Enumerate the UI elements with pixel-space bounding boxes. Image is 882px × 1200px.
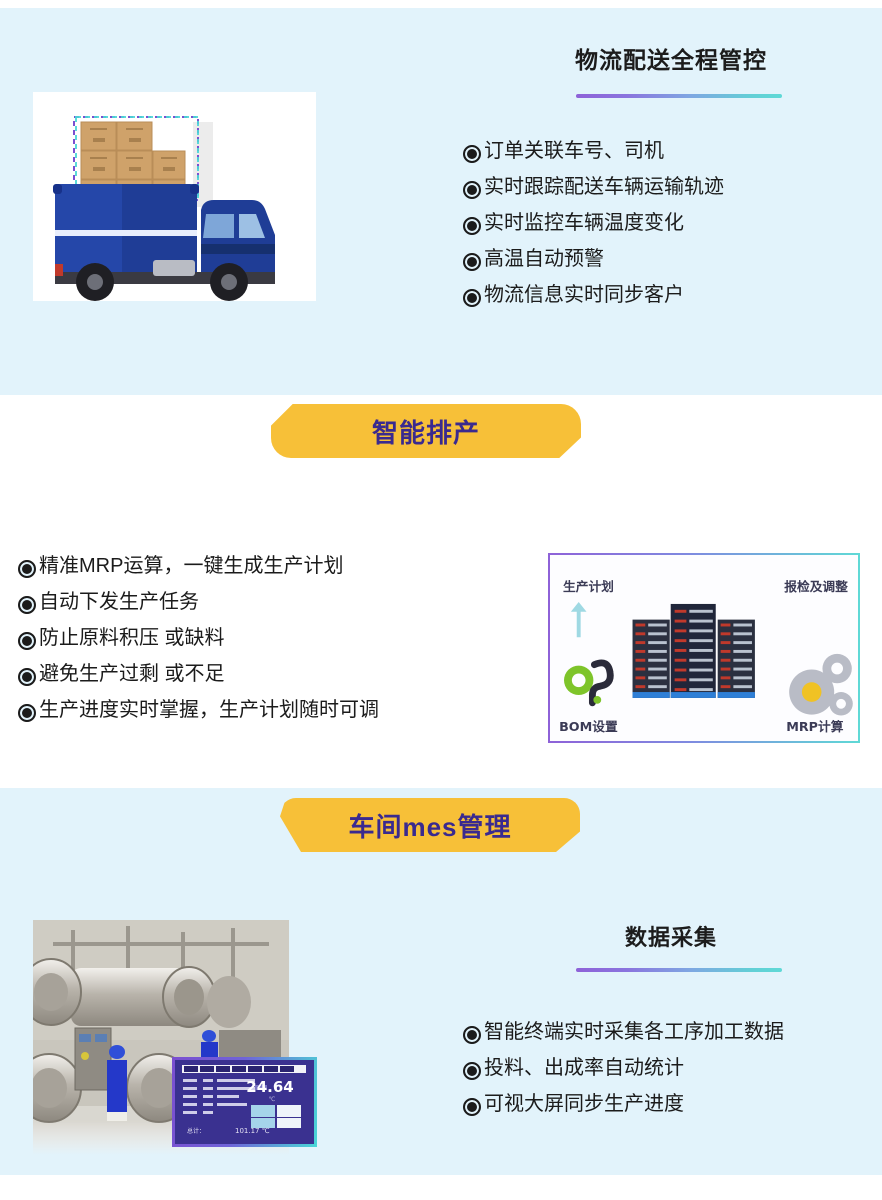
delivery-truck-image <box>33 92 316 301</box>
list-item-label: 高温自动预警 <box>484 249 604 269</box>
list-item: 避免生产过剩 或不足 <box>18 664 488 686</box>
list-item: 智能终端实时采集各工序加工数据 <box>463 1022 873 1044</box>
bullet-icon <box>18 560 36 578</box>
mes-feature-list: 智能终端实时采集各工序加工数据 投料、出成率自动统计 可视大屏同步生产进度 <box>463 1022 873 1130</box>
mrp-flow-diagram-image: 生产计划 报检及调整 BOM设置 MRP计算 <box>548 553 860 743</box>
list-item: 高温自动预警 <box>463 249 873 271</box>
list-item: 实时监控车辆温度变化 <box>463 213 873 235</box>
svg-text:总计：: 总计： <box>187 1127 205 1135</box>
bullet-icon <box>463 145 481 163</box>
bullet-icon <box>463 181 481 199</box>
list-item: 防止原料积压 或缺料 <box>18 628 488 650</box>
logistics-feature-list: 订单关联车号、司机 实时跟踪配送车辆运输轨迹 实时监控车辆温度变化 高温自动预警… <box>463 141 873 321</box>
section-logistics: 物流配送全程管控 订单关联车号、司机 实时跟踪配送车辆运输轨迹 实时监控车辆温度… <box>0 8 882 395</box>
section-mes-title: 数据采集 <box>460 920 882 952</box>
svg-text:BOM设置: BOM设置 <box>559 719 618 734</box>
bullet-icon <box>463 253 481 271</box>
svg-text:报检及调整: 报检及调整 <box>784 579 848 594</box>
list-item-label: 物流信息实时同步客户 <box>484 285 684 305</box>
bullet-icon <box>18 704 36 722</box>
bullet-icon <box>463 217 481 235</box>
bullet-icon <box>18 632 36 650</box>
list-item: 订单关联车号、司机 <box>463 141 873 163</box>
banner-scheduling-label: 智能排产 <box>372 413 480 450</box>
bullet-icon <box>463 289 481 307</box>
scheduling-feature-list: 精准MRP运算，一键生成生产计划 自动下发生产任务 防止原料积压 或缺料 避免生… <box>18 556 488 736</box>
list-item-label: 投料、出成率自动统计 <box>484 1058 684 1078</box>
list-item: 可视大屏同步生产进度 <box>463 1094 873 1116</box>
list-item: 生产进度实时掌握，生产计划随时可调 <box>18 700 488 722</box>
list-item-label: 实时跟踪配送车辆运输轨迹 <box>484 177 724 197</box>
list-item: 实时跟踪配送车辆运输轨迹 <box>463 177 873 199</box>
hmi-screen-illustration: 24.64 ℃ 总计： 101.17 ℃ <box>175 1060 314 1144</box>
list-item-label: 可视大屏同步生产进度 <box>484 1094 684 1114</box>
list-item-label: 精准MRP运算，一键生成生产计划 <box>39 556 343 576</box>
section-logistics-title: 物流配送全程管控 <box>460 41 882 75</box>
svg-text:101.17 ℃: 101.17 ℃ <box>235 1127 270 1135</box>
bullet-icon <box>463 1062 481 1080</box>
list-item-label: 订单关联车号、司机 <box>484 141 664 161</box>
list-item: 精准MRP运算，一键生成生产计划 <box>18 556 488 578</box>
bullet-icon <box>18 596 36 614</box>
hmi-control-screen: 24.64 ℃ 总计： 101.17 ℃ <box>172 1057 317 1147</box>
list-item: 投料、出成率自动统计 <box>463 1058 873 1080</box>
poster-page: 物流配送全程管控 订单关联车号、司机 实时跟踪配送车辆运输轨迹 实时监控车辆温度… <box>0 0 882 1200</box>
svg-text:生产计划: 生产计划 <box>563 579 614 594</box>
list-item-label: 防止原料积压 或缺料 <box>39 628 225 648</box>
list-item-label: 生产进度实时掌握，生产计划随时可调 <box>39 700 379 720</box>
svg-text:MRP计算: MRP计算 <box>786 719 843 734</box>
list-item-label: 避免生产过剩 或不足 <box>39 664 225 684</box>
page-footer-space <box>0 1175 882 1200</box>
bullet-icon <box>463 1098 481 1116</box>
bullet-icon <box>463 1026 481 1044</box>
list-item-label: 智能终端实时采集各工序加工数据 <box>484 1022 784 1042</box>
banner-mes: 车间mes管理 <box>280 798 580 852</box>
banner-mes-label: 车间mes管理 <box>348 807 511 844</box>
gradient-rule <box>576 94 782 98</box>
truck-illustration <box>33 92 316 301</box>
list-item-label: 自动下发生产任务 <box>39 592 199 612</box>
list-item: 物流信息实时同步客户 <box>463 285 873 307</box>
banner-scheduling: 智能排产 <box>271 404 581 458</box>
list-item: 自动下发生产任务 <box>18 592 488 614</box>
bullet-icon <box>18 668 36 686</box>
gradient-rule <box>576 968 782 972</box>
mrp-diagram-illustration: 生产计划 报检及调整 BOM设置 MRP计算 <box>550 555 858 741</box>
svg-text:℃: ℃ <box>269 1096 276 1103</box>
list-item-label: 实时监控车辆温度变化 <box>484 213 684 233</box>
hmi-primary-value: 24.64 <box>246 1078 293 1096</box>
